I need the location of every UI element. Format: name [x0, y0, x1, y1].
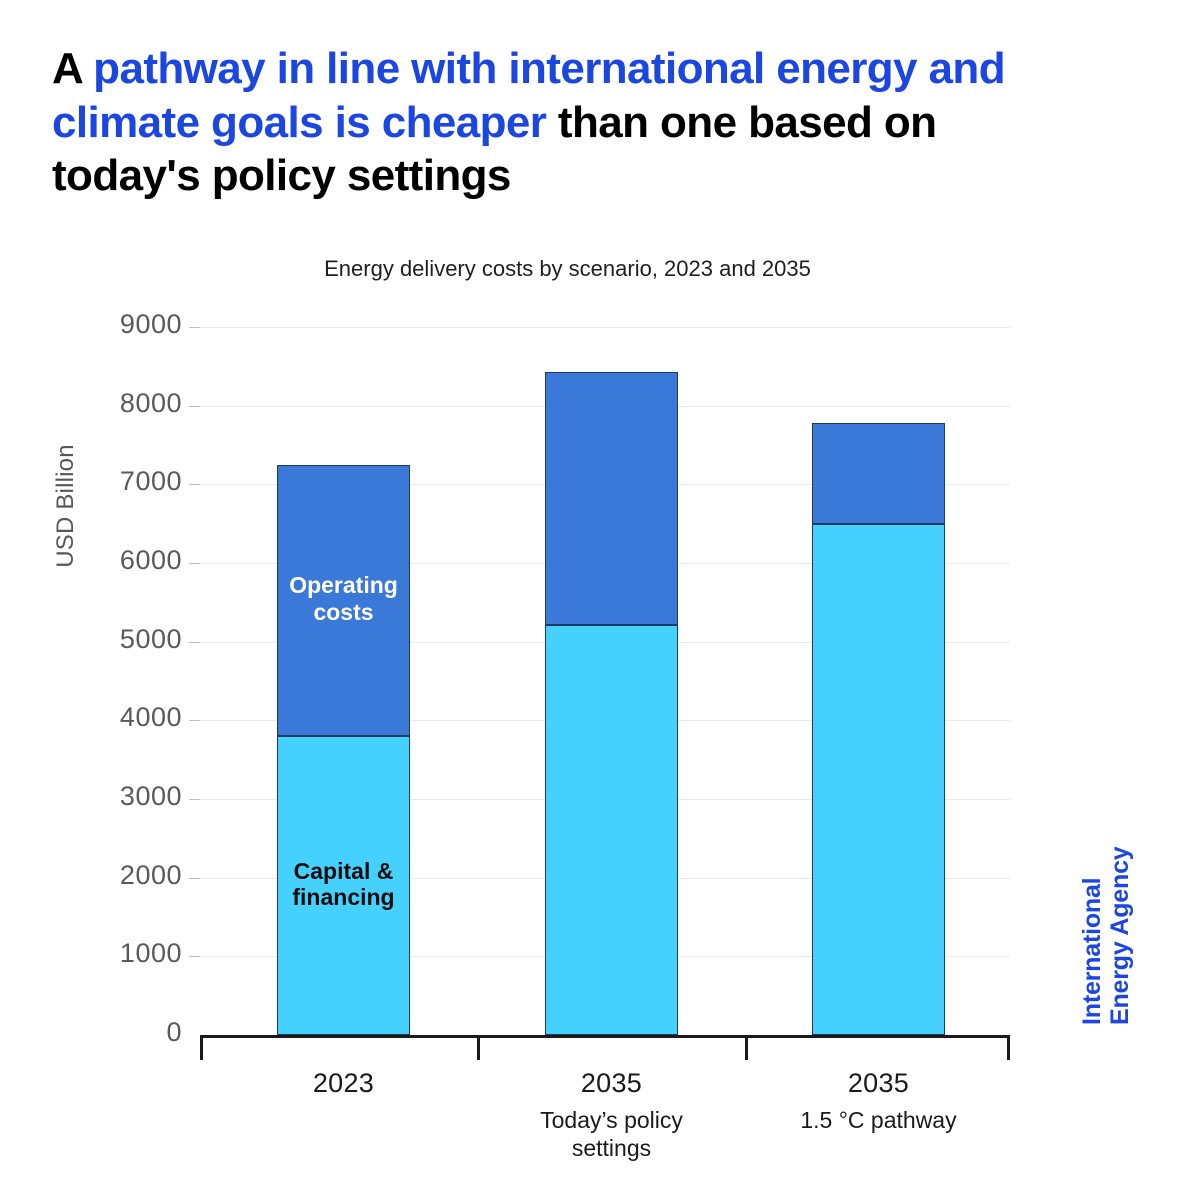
iea-logo: International Energy Agency — [1078, 785, 1138, 1025]
x-axis-category-year: 2035 — [744, 1068, 1014, 1099]
y-axis-tick-label: 3000 — [62, 781, 182, 812]
brand-line-1: International — [1078, 785, 1106, 1025]
x-axis-category-sublabel: Today’s policy settings — [512, 1107, 712, 1162]
y-axis-tick-mark — [189, 956, 200, 957]
y-axis-tick-mark — [189, 406, 200, 407]
y-axis-tick-label: 0 — [62, 1017, 182, 1048]
x-axis-line — [200, 1035, 1010, 1038]
bar-segment — [545, 372, 678, 625]
y-axis-tick-mark — [189, 642, 200, 643]
bar-group: Capital &financingOperatingcosts — [277, 0, 410, 1200]
y-axis-tick-label: 1000 — [62, 938, 182, 969]
x-axis-category: 2023 — [209, 1068, 479, 1099]
x-axis-category-year: 2035 — [477, 1068, 747, 1099]
y-axis-tick-mark — [189, 878, 200, 879]
bar-group — [812, 0, 945, 1200]
y-axis-tick-label: 9000 — [62, 309, 182, 340]
y-axis-tick-mark — [189, 720, 200, 721]
x-axis-category-sublabel: 1.5 °C pathway — [779, 1107, 979, 1135]
x-axis-tick-mark — [200, 1038, 203, 1060]
bar-segment-label: Operatingcosts — [277, 572, 410, 625]
bar-segment — [812, 423, 945, 524]
y-axis-tick-label: 2000 — [62, 860, 182, 891]
y-axis-tick-mark — [189, 327, 200, 328]
x-axis-tick-mark — [477, 1038, 480, 1060]
x-axis-category: 20351.5 °C pathway — [744, 1068, 1014, 1135]
y-axis-tick-label: 6000 — [62, 545, 182, 576]
x-axis-category-year: 2023 — [209, 1068, 479, 1099]
y-axis-tick-mark — [189, 484, 200, 485]
x-axis-tick-mark — [745, 1038, 748, 1060]
chart-container: Energy delivery costs by scenario, 2023 … — [0, 0, 1200, 1200]
x-axis-tick-mark — [1007, 1038, 1010, 1060]
bar-segment — [545, 625, 678, 1035]
y-axis-tick-mark — [189, 563, 200, 564]
bar-segment — [812, 524, 945, 1035]
y-axis-tick-label: 5000 — [62, 624, 182, 655]
bar-segment-label: Capital &financing — [277, 858, 410, 911]
bar-group — [545, 0, 678, 1200]
y-axis-tick-mark — [189, 799, 200, 800]
y-axis-tick-label: 7000 — [62, 466, 182, 497]
x-axis-category: 2035Today’s policy settings — [477, 1068, 747, 1162]
y-axis-tick-label: 8000 — [62, 388, 182, 419]
y-axis-tick-label: 4000 — [62, 702, 182, 733]
brand-line-2: Energy Agency — [1106, 785, 1134, 1025]
